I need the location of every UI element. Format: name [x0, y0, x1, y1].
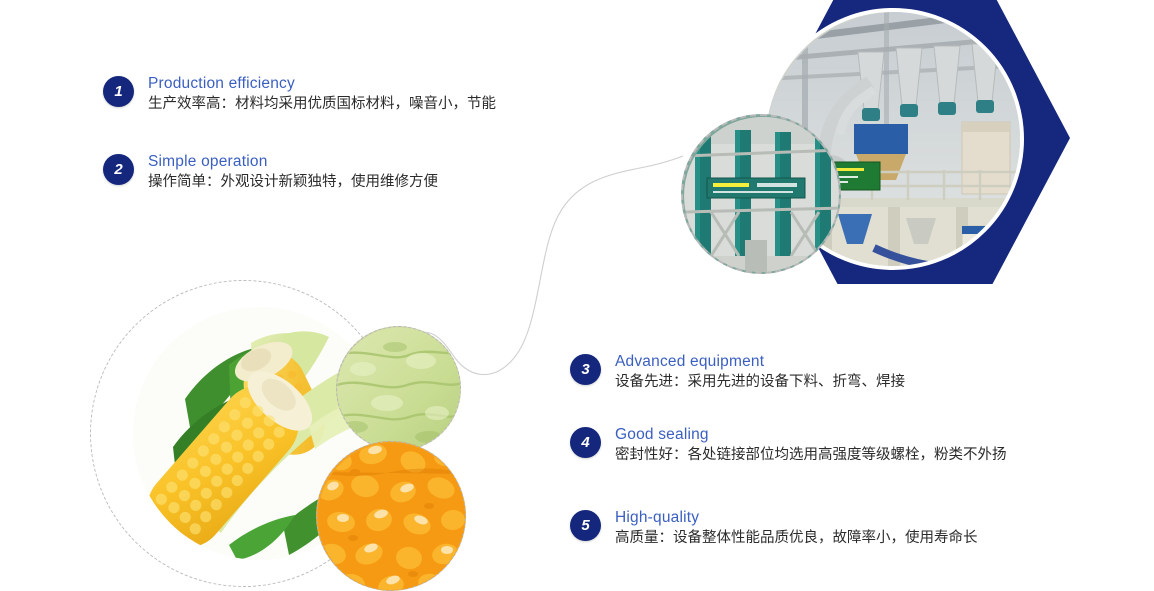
- feature-desc-1: 生产效率高：材料均采用优质国标材料，噪音小，节能: [148, 94, 496, 115]
- feature-desc-2: 操作简单：外观设计新颖独特，使用维修方便: [148, 172, 438, 193]
- feature-title-1: Production efficiency: [148, 74, 496, 93]
- infographic-canvas: 1 Production efficiency 生产效率高：材料均采用优质国标材…: [0, 0, 1154, 591]
- feature-title-2: Simple operation: [148, 152, 438, 171]
- feature-title-4: Good sealing: [615, 425, 1007, 444]
- feature-badge-1: 1: [103, 76, 134, 107]
- feature-item-4[interactable]: 4 Good sealing 密封性好：各处链接部位均选用高强度等级螺栓，粉类不…: [570, 425, 1007, 466]
- feature-title-3: Advanced equipment: [615, 352, 905, 371]
- feature-desc-3: 设备先进：采用先进的设备下料、折弯、焊接: [615, 372, 905, 393]
- feature-item-2[interactable]: 2 Simple operation 操作简单：外观设计新颖独特，使用维修方便: [103, 152, 438, 193]
- green-machinery-photo: [681, 114, 841, 274]
- corn-kernels-photo: [316, 441, 466, 591]
- feature-badge-2: 2: [103, 154, 134, 185]
- feature-desc-4: 密封性好：各处链接部位均选用高强度等级螺栓，粉类不外扬: [615, 445, 1007, 466]
- feature-badge-5: 5: [570, 510, 601, 541]
- feature-title-5: High-quality: [615, 508, 978, 527]
- feature-desc-5: 高质量：设备整体性能品质优良，故障率小，使用寿命长: [615, 528, 978, 549]
- feature-badge-3: 3: [570, 354, 601, 385]
- feature-item-1[interactable]: 1 Production efficiency 生产效率高：材料均采用优质国标材…: [103, 74, 496, 115]
- green-corn-paste-photo: [336, 326, 461, 451]
- feature-item-5[interactable]: 5 High-quality 高质量：设备整体性能品质优良，故障率小，使用寿命长: [570, 508, 978, 549]
- feature-badge-4: 4: [570, 427, 601, 458]
- feature-item-3[interactable]: 3 Advanced equipment 设备先进：采用先进的设备下料、折弯、焊…: [570, 352, 905, 393]
